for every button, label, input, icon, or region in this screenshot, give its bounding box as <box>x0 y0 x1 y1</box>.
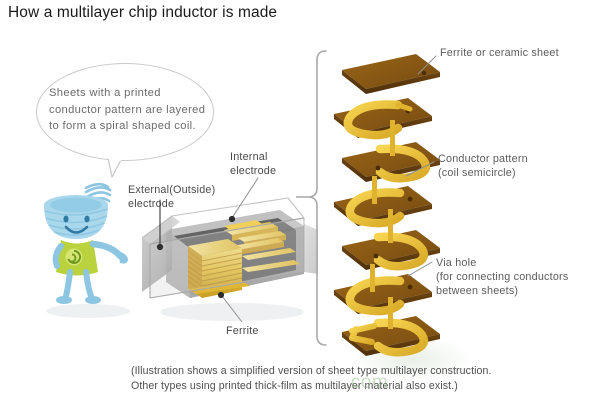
chip-case <box>142 198 318 298</box>
via-hole <box>408 197 413 202</box>
chip-shadow <box>160 303 304 321</box>
via-post <box>370 264 375 292</box>
speech-bubble-text: Sheets with a printed conductor pattern … <box>49 85 209 135</box>
label-ferrite-or-ceramic-sheet: Ferrite or ceramic sheet <box>440 46 559 60</box>
via-post <box>372 176 377 204</box>
via-hole <box>376 166 381 171</box>
sheet-1 <box>342 54 440 94</box>
label-conductor-pattern: Conductor pattern (coil semicircle) <box>438 152 528 180</box>
mascot-leg-right <box>86 272 91 296</box>
page-title: How a multilayer chip inductor is made <box>8 4 277 22</box>
label-internal-electrode: Internal electrode <box>230 150 276 178</box>
via-post <box>388 209 393 243</box>
mascot-shadow <box>46 304 130 318</box>
exploded-sheet-stack <box>312 42 452 357</box>
via-post <box>390 120 395 156</box>
speech-bubble-tail <box>106 157 124 179</box>
mascot-arm-right <box>93 244 120 256</box>
sheet-4 <box>334 176 432 226</box>
via-hole <box>374 254 379 259</box>
via-post <box>388 297 393 329</box>
mascot-hand-right <box>118 251 128 264</box>
footnote-caption: (Illustration shows a simplified version… <box>131 364 551 394</box>
label-external-electrode: External(Outside) electrode <box>128 183 215 211</box>
mascot-leg-left <box>66 272 70 296</box>
mascot-emblem <box>66 249 83 266</box>
mascot-foot-right <box>85 296 101 304</box>
via-hole <box>408 285 413 290</box>
mascot-foot-left <box>56 296 72 304</box>
sheet-6 <box>334 264 432 314</box>
diagram-canvas: How a multilayer chip inductor is made S… <box>0 0 600 408</box>
sheet-2 <box>334 98 432 138</box>
label-via-hole: Via hole (for connecting conductors betw… <box>436 256 568 299</box>
via-hole <box>422 71 426 75</box>
label-ferrite: Ferrite <box>226 324 259 338</box>
